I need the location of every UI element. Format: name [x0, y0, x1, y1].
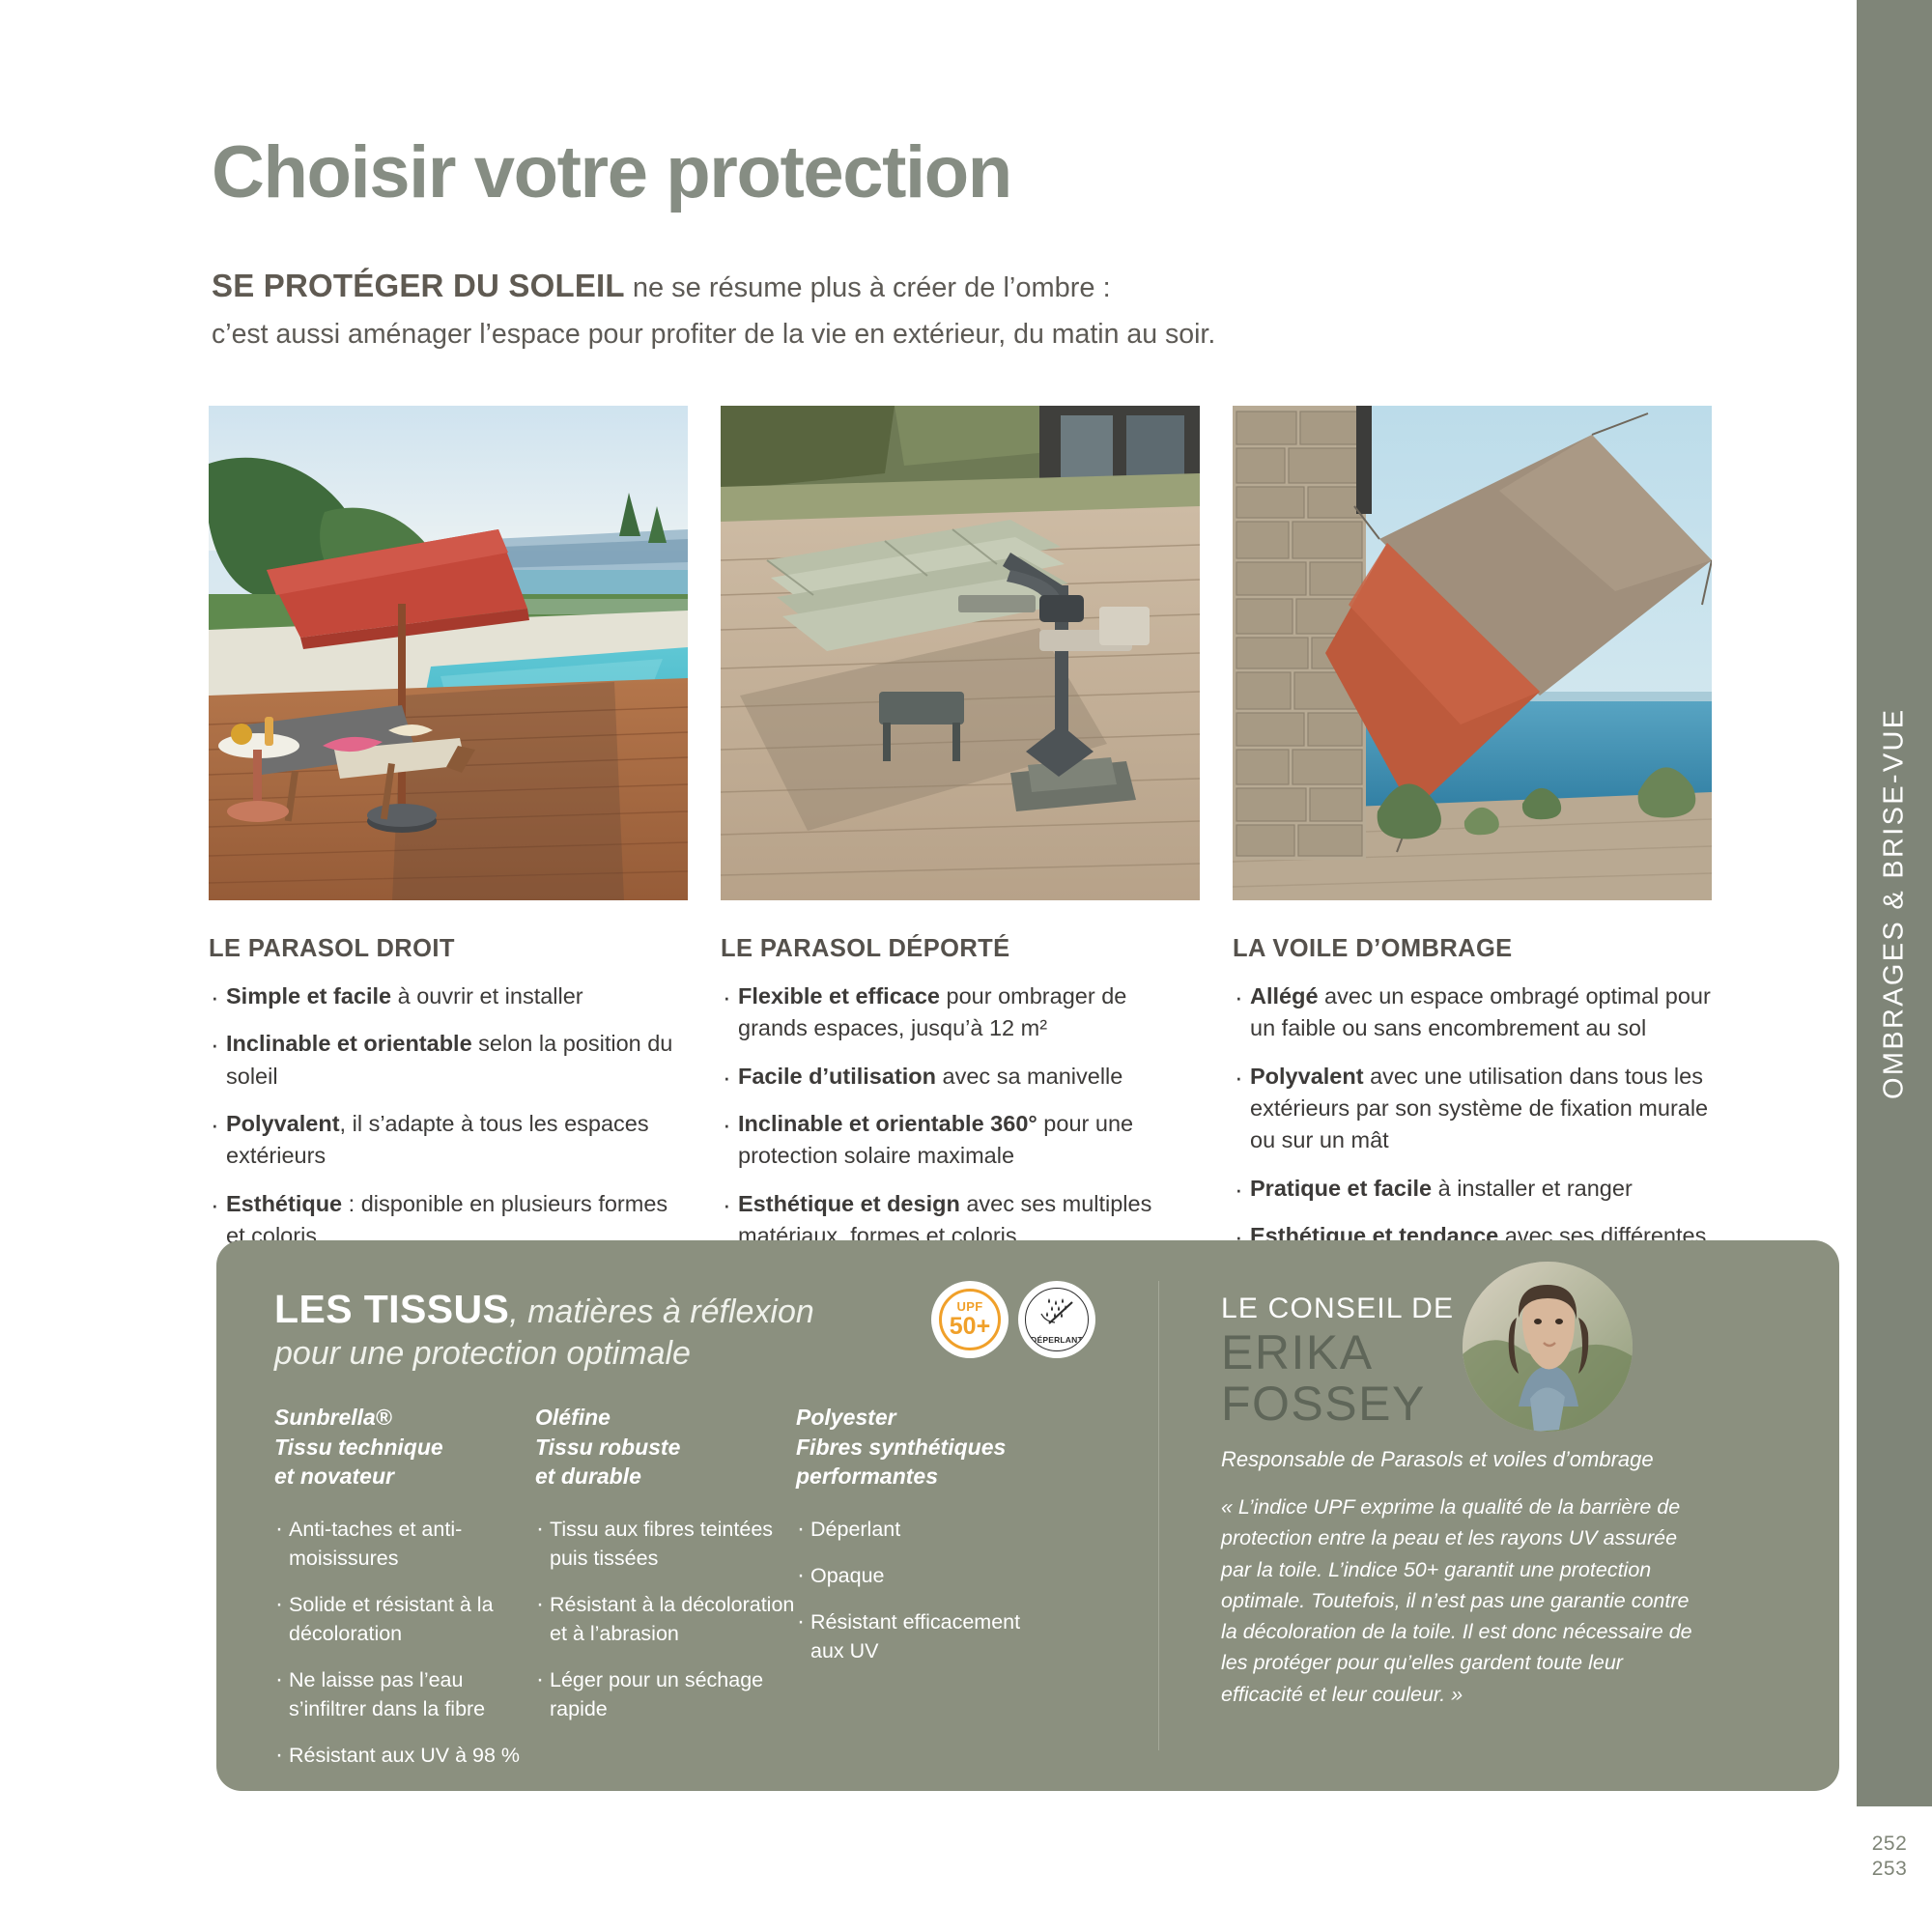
subtitle-strong: SE PROTÉGER DU SOLEIL: [212, 268, 625, 303]
page-title: Choisir votre protection: [212, 130, 1011, 214]
fabric-feature: Léger pour un séchage rapide: [535, 1665, 796, 1723]
bullet-item: Polyvalent, il s’adapte à tous les espac…: [209, 1108, 688, 1173]
deperlant-badge: DÉPERLANT: [1018, 1281, 1095, 1358]
certification-badges: UPF 50+: [931, 1281, 1095, 1358]
fabrics-heading: LES TISSUS, matières à réflexion pour un…: [274, 1287, 873, 1373]
bullet-item: Polyvalent avec une utilisation dans tou…: [1233, 1061, 1712, 1157]
column-bullets: Allégé avec un espace ombragé optimal po…: [1233, 980, 1712, 1285]
fabric-feature: Opaque: [796, 1561, 1057, 1590]
bullet-item: Simple et facile à ouvrir et installer: [209, 980, 688, 1012]
avatar: [1463, 1262, 1633, 1432]
bullet-item: Flexible et efficace pour ombrager de gr…: [721, 980, 1200, 1045]
upf-badge: UPF 50+: [931, 1281, 1009, 1358]
column-bullets: Simple et facile à ouvrir et installer I…: [209, 980, 688, 1253]
fabric-name: Sunbrella® Tissu technique et novateur: [274, 1403, 535, 1492]
bullet-item: Pratique et facile à installer et ranger: [1233, 1173, 1712, 1205]
page-number-left: 252: [1864, 1832, 1915, 1857]
product-column-voile-ombrage: LA VOILE D’OMBRAGE Allégé avec un espace…: [1233, 406, 1712, 1300]
fabric-feature: Résistant aux UV à 98 %: [274, 1741, 535, 1770]
column-title: LE PARASOL DROIT: [209, 935, 688, 963]
fabric-types: Sunbrella® Tissu technique et novateur A…: [274, 1403, 1057, 1833]
fabric-name: Oléfine Tissu robuste et durable: [535, 1403, 796, 1492]
fabric-polyester: Polyester Fibres synthétiques performant…: [796, 1403, 1057, 1833]
water-drops-icon: [1034, 1294, 1082, 1333]
deperlant-badge-label: DÉPERLANT: [1031, 1335, 1083, 1345]
fabrics-panel: LES TISSUS, matières à réflexion pour un…: [216, 1240, 1839, 1791]
fabric-sunbrella: Sunbrella® Tissu technique et novateur A…: [274, 1403, 535, 1833]
fabrics-heading-italic: , matières à réflexion: [509, 1293, 814, 1330]
photo-parasol-deporte: [721, 406, 1200, 900]
product-column-parasol-droit: LE PARASOL DROIT Simple et facile à ouvr…: [209, 406, 688, 1300]
fabrics-heading-bold: LES TISSUS: [274, 1287, 509, 1331]
advice-quote: « L’indice UPF exprime la qualité de la …: [1221, 1492, 1704, 1710]
panel-divider: [1158, 1281, 1159, 1750]
fabric-feature: Solide et résistant à la décoloration: [274, 1590, 535, 1648]
bullet-item: Inclinable et orientable selon la positi…: [209, 1028, 688, 1093]
fabric-name: Polyester Fibres synthétiques performant…: [796, 1403, 1057, 1492]
catalog-page: OMBRAGES & BRISE-VUE 252 253 Choisir vot…: [0, 0, 1932, 1932]
page-number-right: 253: [1864, 1857, 1915, 1882]
page-numbers: 252 253: [1864, 1832, 1915, 1883]
fabric-feature: Résistant à la décoloration et à l’abras…: [535, 1590, 796, 1648]
bullet-item: Allégé avec un espace ombragé optimal po…: [1233, 980, 1712, 1045]
upf-badge-label: UPF: [957, 1300, 983, 1313]
subtitle-line2: c’est aussi aménager l’espace pour profi…: [212, 315, 1332, 355]
photo-voile-ombrage: [1233, 406, 1712, 900]
photo-parasol-droit: [209, 406, 688, 900]
fabric-feature: Ne laisse pas l’eau s’infiltrer dans la …: [274, 1665, 535, 1723]
fabric-feature: Tissu aux fibres teintées puis tissées: [535, 1515, 796, 1573]
fabrics-heading-line2: pour une protection optimale: [274, 1335, 873, 1373]
bullet-item: Inclinable et orientable 360° pour une p…: [721, 1108, 1200, 1173]
section-tab-label: OMBRAGES & BRISE-VUE: [1857, 0, 1932, 1806]
fabric-feature: Résistant efficacement aux UV: [796, 1607, 1057, 1665]
subtitle-light: ne se résume plus à créer de l’ombre :: [625, 272, 1111, 303]
fabric-feature: Garanti 5 ans: [274, 1787, 535, 1816]
fabric-feature: Anti-taches et anti-moisissures: [274, 1515, 535, 1573]
bullet-item: Facile d’utilisation avec sa manivelle: [721, 1061, 1200, 1093]
fabric-olefine: Oléfine Tissu robuste et durable Tissu a…: [535, 1403, 796, 1833]
fabric-feature: Déperlant: [796, 1515, 1057, 1544]
column-title: LA VOILE D’OMBRAGE: [1233, 935, 1712, 963]
product-columns: LE PARASOL DROIT Simple et facile à ouvr…: [209, 406, 1766, 1300]
product-column-parasol-deporte: LE PARASOL DÉPORTÉ Flexible et efficace …: [721, 406, 1200, 1300]
column-title: LE PARASOL DÉPORTÉ: [721, 935, 1200, 963]
page-subtitle: SE PROTÉGER DU SOLEIL ne se résume plus …: [212, 263, 1332, 355]
advice-expert-role: Responsable de Parasols et voiles d’ombr…: [1221, 1447, 1781, 1472]
column-bullets: Flexible et efficace pour ombrager de gr…: [721, 980, 1200, 1253]
upf-badge-value: 50+: [950, 1315, 990, 1339]
